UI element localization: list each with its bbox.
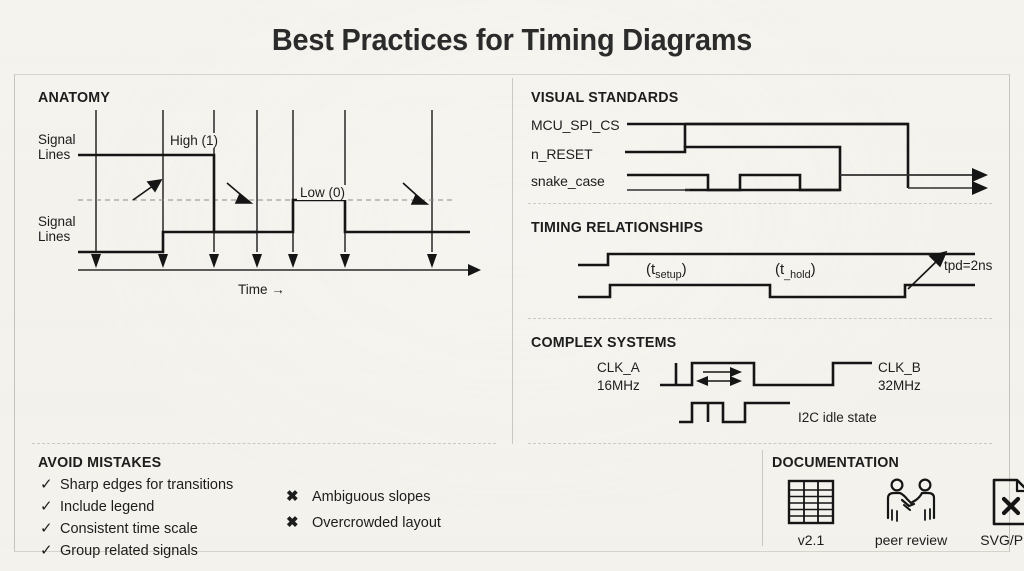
list-item: ✖Ambiguous slopes [286, 484, 441, 510]
anatomy-signal-label-top-line2: Lines [38, 147, 76, 162]
cross-icon: ✖ [286, 510, 312, 536]
list-item: ✓Group related signals [40, 540, 233, 562]
section-heading-anatomy: ANATOMY [38, 89, 110, 106]
section-heading-documentation: DOCUMENTATION [772, 454, 899, 471]
vertical-divider-bottom [762, 450, 763, 546]
t-hold-sub: _hold [784, 269, 810, 281]
avoid-mistakes-do-list: ✓Sharp edges for transitions ✓Include le… [40, 474, 233, 562]
anatomy-low-label: Low (0) [297, 185, 348, 200]
do-item-label: Consistent time scale [60, 521, 198, 537]
file-x-icon-svg [990, 477, 1024, 527]
divider-complex-doc [528, 443, 992, 444]
list-item: ✓Sharp edges for transitions [40, 474, 233, 496]
divider-visual-timing [528, 203, 992, 204]
anatomy-signal-label-top-line1: Signal [38, 132, 76, 147]
tpd-label: tpd=2ns [944, 258, 992, 273]
do-item-label: Sharp edges for transitions [60, 477, 233, 493]
t-hold-label: (t_hold) [775, 261, 816, 281]
doc-item-peer-review-caption: peer review [872, 532, 950, 548]
doc-item-version-caption: v2.1 [772, 532, 850, 548]
avoid-mistakes-dont-list: ✖Ambiguous slopes ✖Overcrowded layout [286, 484, 441, 536]
t-setup-sub: setup [655, 269, 681, 281]
table-icon [772, 476, 850, 528]
clk-a-name: CLK_A [597, 360, 640, 375]
clk-b-name: CLK_B [878, 360, 921, 375]
vertical-divider-main [512, 78, 513, 444]
dont-item-label: Overcrowded layout [312, 515, 441, 531]
check-icon: ✓ [40, 518, 60, 539]
anatomy-signal-label-bottom-line1: Signal [38, 214, 76, 229]
page-title: Best Practices for Timing Diagrams [36, 22, 988, 58]
table-icon-svg [787, 479, 835, 525]
anatomy-high-label: High (1) [167, 133, 221, 148]
anatomy-signal-label-bottom-line2: Lines [38, 229, 76, 244]
anatomy-signal-label-bottom: Signal Lines [38, 214, 76, 244]
handshake-icon-svg [880, 478, 942, 526]
doc-item-formats-caption: SVG/PDF [972, 532, 1024, 548]
doc-item-peer-review[interactable]: peer review [872, 476, 950, 548]
list-item: ✓Consistent time scale [40, 518, 233, 540]
t-hold-close: ) [811, 261, 816, 278]
t-setup-label: (tsetup) [646, 261, 687, 281]
signal-label-mcu-spi-cs: MCU_SPI_CS [531, 117, 619, 133]
file-x-icon [972, 476, 1024, 528]
list-item: ✖Overcrowded layout [286, 510, 441, 536]
clk-a-freq: 16MHz [597, 378, 640, 393]
divider-anatomy-avoid [32, 443, 496, 444]
signal-label-snake-case: snake_case [531, 173, 605, 189]
doc-item-formats[interactable]: SVG/PDF [972, 476, 1024, 548]
do-item-label: Group related signals [60, 543, 198, 559]
dont-item-label: Ambiguous slopes [312, 489, 431, 505]
anatomy-time-axis-label: Time → [238, 282, 285, 297]
handshake-icon [872, 476, 950, 528]
t-setup-open: (t [646, 261, 655, 278]
check-icon: ✓ [40, 496, 60, 517]
signal-label-n-reset: n_RESET [531, 146, 593, 162]
anatomy-signal-label-top: Signal Lines [38, 132, 76, 162]
poster-canvas: Best Practices for Timing Diagrams ANATO… [0, 0, 1024, 571]
divider-timing-complex [528, 318, 992, 319]
doc-item-version[interactable]: v2.1 [772, 476, 850, 548]
do-item-label: Include legend [60, 499, 154, 515]
section-heading-avoid-mistakes: AVOID MISTAKES [38, 454, 161, 471]
t-setup-close: ) [682, 261, 687, 278]
check-icon: ✓ [40, 540, 60, 561]
section-heading-visual-standards: VISUAL STANDARDS [531, 89, 678, 106]
i2c-idle-state-label: I2C idle state [798, 410, 877, 425]
t-hold-open: (t [775, 261, 784, 278]
section-heading-timing-relationships: TIMING RELATIONSHIPS [531, 219, 703, 236]
check-icon: ✓ [40, 474, 60, 495]
cross-icon: ✖ [286, 484, 312, 510]
clk-b-freq: 32MHz [878, 378, 921, 393]
documentation-items: v2.1 peer review [772, 476, 1024, 548]
section-heading-complex-systems: COMPLEX SYSTEMS [531, 334, 676, 351]
list-item: ✓Include legend [40, 496, 233, 518]
